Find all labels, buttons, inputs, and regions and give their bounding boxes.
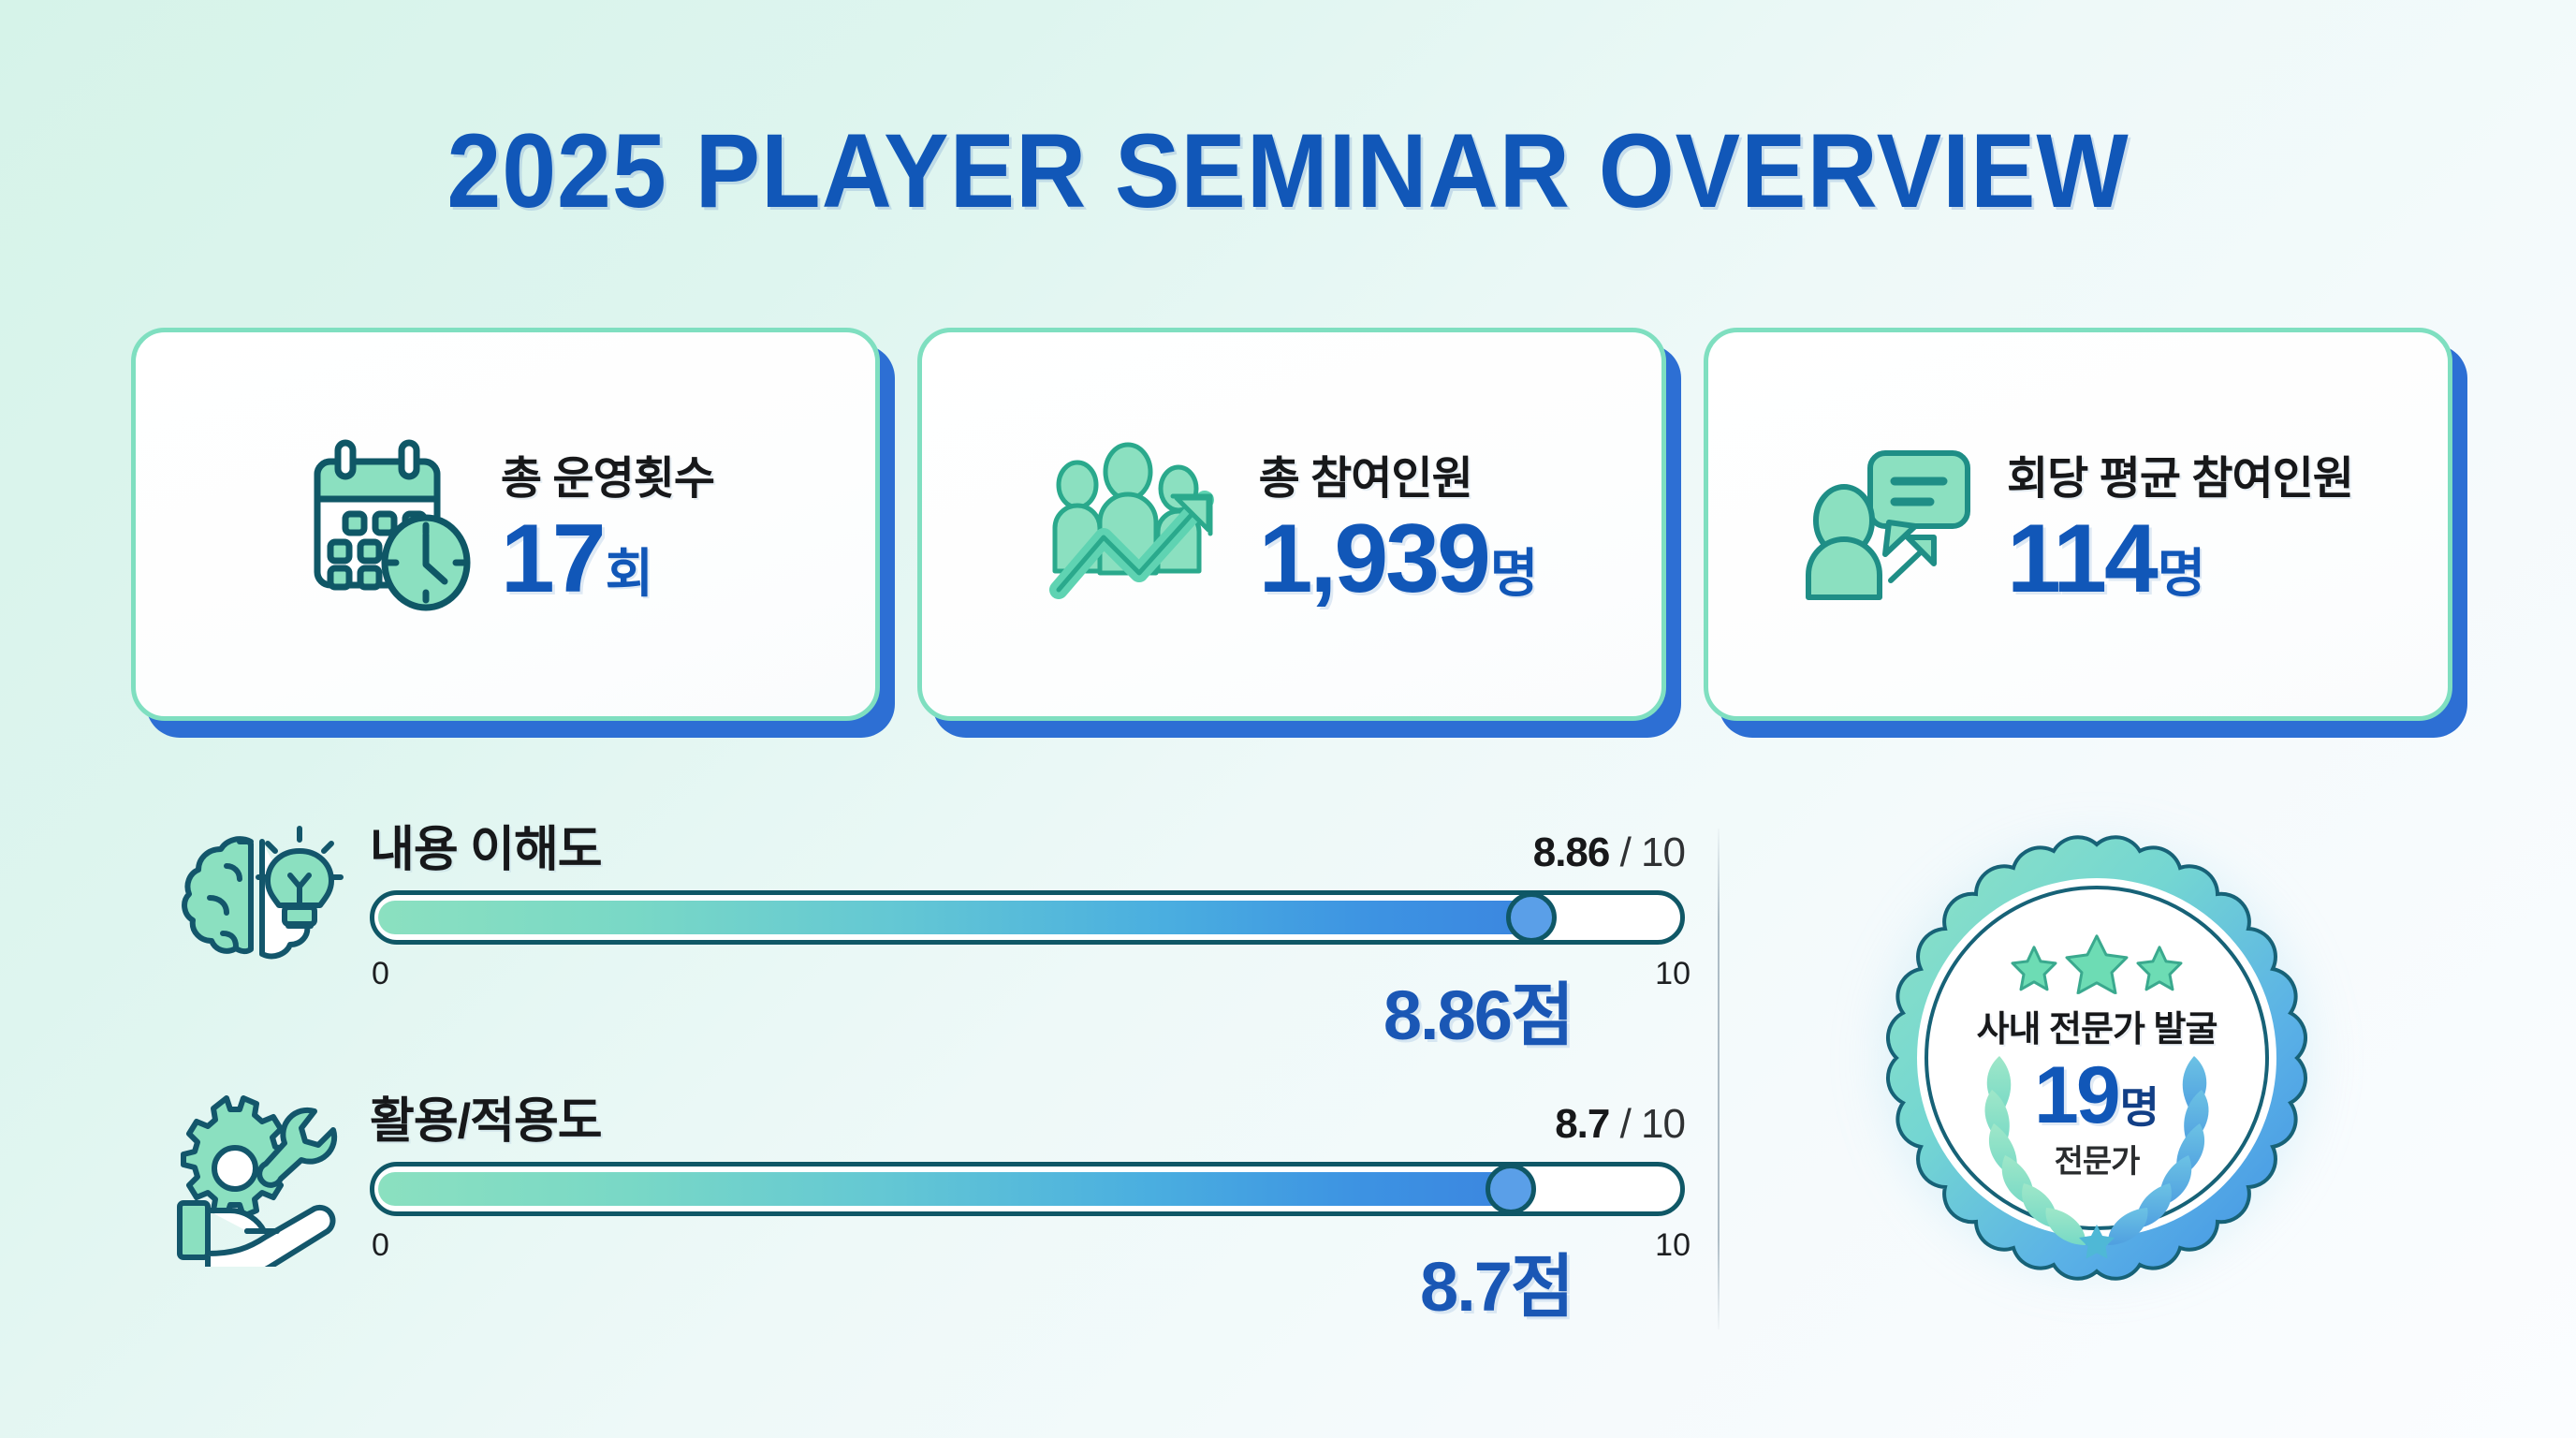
card-label: 회당 평균 참여인원: [2007, 441, 2353, 506]
badge-stars: [1942, 934, 2251, 994]
section-divider: [1718, 829, 1720, 1329]
card-value-row: 114 명: [2007, 510, 2205, 608]
brain-lightbulb-icon: [168, 817, 346, 995]
metric-slider-thumb[interactable]: [1486, 1164, 1536, 1214]
person-speech-bubble-arrow-icon: [1803, 440, 1990, 609]
card-text: 총 참여인원 1,939 명: [1259, 441, 1539, 608]
stat-card-average-participants: 회당 평균 참여인원 114 명: [1704, 328, 2452, 721]
axis-min-label: 0: [372, 956, 389, 992]
card-text: 총 운영횟수 17 회: [501, 441, 714, 608]
card-number: 114: [2007, 510, 2156, 608]
card-unit: 명: [2158, 532, 2206, 608]
expert-badge: 사내 전문가 발굴 19 명 전문가: [1835, 791, 2359, 1325]
metric-slider-track[interactable]: [370, 890, 1685, 945]
metric-slider-thumb[interactable]: [1506, 892, 1557, 943]
metric-title: 내용 이해도: [370, 810, 602, 880]
stat-card-total-participants: 총 참여인원 1,939 명: [917, 328, 1666, 721]
card-number: 17: [501, 510, 604, 608]
metric-score-max: / 10: [1620, 829, 1685, 875]
card-surface: 총 참여인원 1,939 명: [917, 328, 1666, 721]
card-label: 총 운영횟수: [501, 441, 714, 506]
metric-slider-list: 내용 이해도 8.86 / 10 0 10 8.86점: [168, 810, 1685, 1353]
metric-slider-fill: [378, 901, 1535, 934]
star-icon: [2067, 936, 2127, 993]
badge-unit: 명: [2120, 1074, 2159, 1136]
star-icon: [2138, 947, 2181, 990]
card-surface: 회당 평균 참여인원 114 명: [1704, 328, 2452, 721]
metric-score: 8.7 / 10: [1555, 1101, 1685, 1148]
badge-title: 사내 전문가 발굴: [1942, 1000, 2251, 1051]
metric-big-score: 8.7점: [1420, 1231, 1573, 1331]
people-growth-chart-icon: [1046, 440, 1242, 609]
page-title: 2025 PLAYER SEMINAR OVERVIEW: [90, 110, 2485, 231]
badge-number: 19: [2034, 1053, 2118, 1137]
metric-score-value: 8.86: [1533, 829, 1610, 875]
axis-max-label: 10: [1655, 1227, 1690, 1264]
card-value-row: 1,939 명: [1259, 510, 1539, 608]
metric-score-value: 8.7: [1555, 1101, 1609, 1147]
stat-card-row: 총 운영횟수 17 회: [131, 328, 2452, 721]
card-unit: 명: [1490, 532, 1539, 608]
metric-slider-fill: [378, 1172, 1515, 1206]
gear-wrench-hand-icon: [168, 1089, 346, 1267]
metric-row-understanding: 내용 이해도 8.86 / 10 0 10 8.86점: [168, 810, 1685, 1081]
metric-big-score: 8.86점: [1383, 960, 1573, 1060]
metric-slider-track[interactable]: [370, 1162, 1685, 1216]
badge-caption: 전문가: [1942, 1136, 2251, 1181]
card-text: 회당 평균 참여인원 114 명: [2007, 441, 2353, 608]
calendar-clock-icon: [297, 435, 484, 613]
axis-min-label: 0: [372, 1227, 389, 1264]
badge-number-row: 19 명: [1942, 1053, 2251, 1137]
card-number: 1,939: [1259, 510, 1488, 608]
axis-max-label: 10: [1655, 956, 1690, 992]
metric-title: 활용/적용도: [370, 1081, 602, 1152]
card-value-row: 17 회: [501, 510, 653, 608]
stat-card-total-sessions: 총 운영횟수 17 회: [131, 328, 880, 721]
card-label: 총 참여인원: [1259, 441, 1472, 506]
metric-score: 8.86 / 10: [1533, 829, 1685, 876]
badge-content: 사내 전문가 발굴 19 명 전문가: [1942, 934, 2251, 1181]
star-icon: [2012, 947, 2056, 990]
metric-row-application: 활용/적용도 8.7 / 10 0 10 8.7점: [168, 1081, 1685, 1353]
metric-header: 내용 이해도 8.86 / 10: [370, 810, 1685, 890]
metric-header: 활용/적용도 8.7 / 10: [370, 1081, 1685, 1162]
metric-score-max: / 10: [1620, 1101, 1685, 1147]
card-unit: 회: [606, 532, 654, 608]
card-surface: 총 운영횟수 17 회: [131, 328, 880, 721]
